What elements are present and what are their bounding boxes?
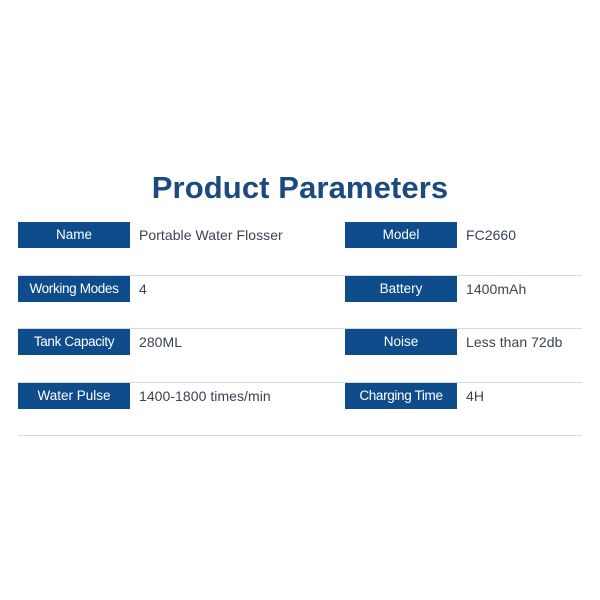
spec-table: Name Portable Water Flosser Model FC2660… [18, 222, 582, 436]
spec-label-charging-time: Charging Time [345, 383, 457, 409]
spec-label-water-pulse: Water Pulse [18, 383, 130, 409]
table-row: Tank Capacity 280ML Noise Less than 72db [18, 329, 582, 383]
spec-label-working-modes: Working Modes [18, 276, 130, 302]
spec-label-model: Model [345, 222, 457, 248]
spec-value-water-pulse: 1400-1800 times/min [139, 383, 271, 409]
spec-cell-model: Model FC2660 [345, 222, 516, 248]
spec-value-working-modes: 4 [139, 276, 147, 302]
spec-value-name: Portable Water Flosser [139, 222, 283, 248]
spec-value-model: FC2660 [466, 222, 516, 248]
table-row: Working Modes 4 Battery 1400mAh [18, 276, 582, 330]
spec-label-tank-capacity: Tank Capacity [18, 329, 130, 355]
spec-cell-name: Name Portable Water Flosser [18, 222, 283, 248]
spec-value-charging-time: 4H [466, 383, 484, 409]
spec-label-name: Name [18, 222, 130, 248]
row-divider [18, 435, 582, 436]
spec-value-tank-capacity: 280ML [139, 329, 182, 355]
product-parameters-sheet: Product Parameters Name Portable Water F… [0, 0, 600, 600]
spec-cell-battery: Battery 1400mAh [345, 276, 526, 302]
spec-cell-charging-time: Charging Time 4H [345, 383, 484, 409]
spec-label-battery: Battery [345, 276, 457, 302]
spec-cell-noise: Noise Less than 72db [345, 329, 562, 355]
spec-value-battery: 1400mAh [466, 276, 526, 302]
spec-value-noise: Less than 72db [466, 329, 562, 355]
spec-cell-tank-capacity: Tank Capacity 280ML [18, 329, 182, 355]
spec-label-noise: Noise [345, 329, 457, 355]
table-row: Name Portable Water Flosser Model FC2660 [18, 222, 582, 276]
table-row: Water Pulse 1400-1800 times/min Charging… [18, 383, 582, 437]
spec-cell-working-modes: Working Modes 4 [18, 276, 147, 302]
page-title: Product Parameters [0, 168, 600, 208]
spec-cell-water-pulse: Water Pulse 1400-1800 times/min [18, 383, 271, 409]
